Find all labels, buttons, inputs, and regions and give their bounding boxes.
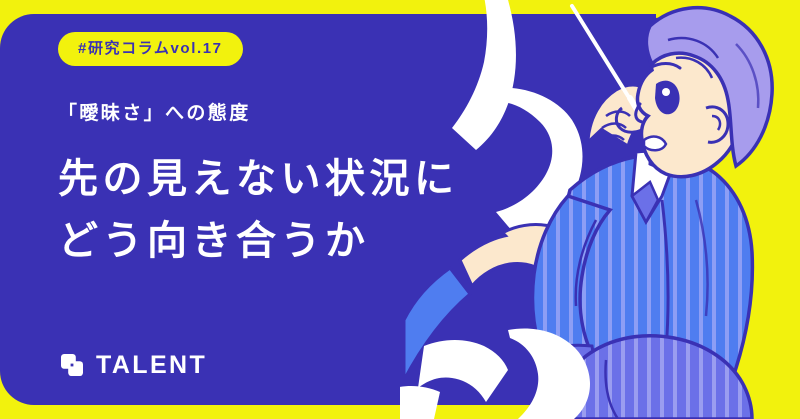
overlapping-squares-mark — [59, 352, 85, 378]
page-title-line-2: どう向き合うか — [58, 210, 498, 272]
subtitle: 「曖昧さ」への態度 — [58, 103, 498, 126]
text-block: #研究コラムvol.17 「曖昧さ」への態度 先の見えない状況に どう向き合うか — [58, 32, 498, 272]
series-badge: #研究コラムvol.17 — [58, 32, 243, 66]
page-title: 先の見えない状況に どう向き合うか — [58, 148, 498, 272]
pointer-baton — [572, 6, 628, 96]
page-title-line-1: 先の見えない状況に — [58, 148, 498, 210]
article-banner: #研究コラムvol.17 「曖昧さ」への態度 先の見えない状況に どう向き合うか… — [0, 0, 800, 419]
head — [636, 8, 772, 177]
talent-logo: TALENT — [59, 352, 207, 378]
talent-wordmark: TALENT — [96, 353, 207, 378]
